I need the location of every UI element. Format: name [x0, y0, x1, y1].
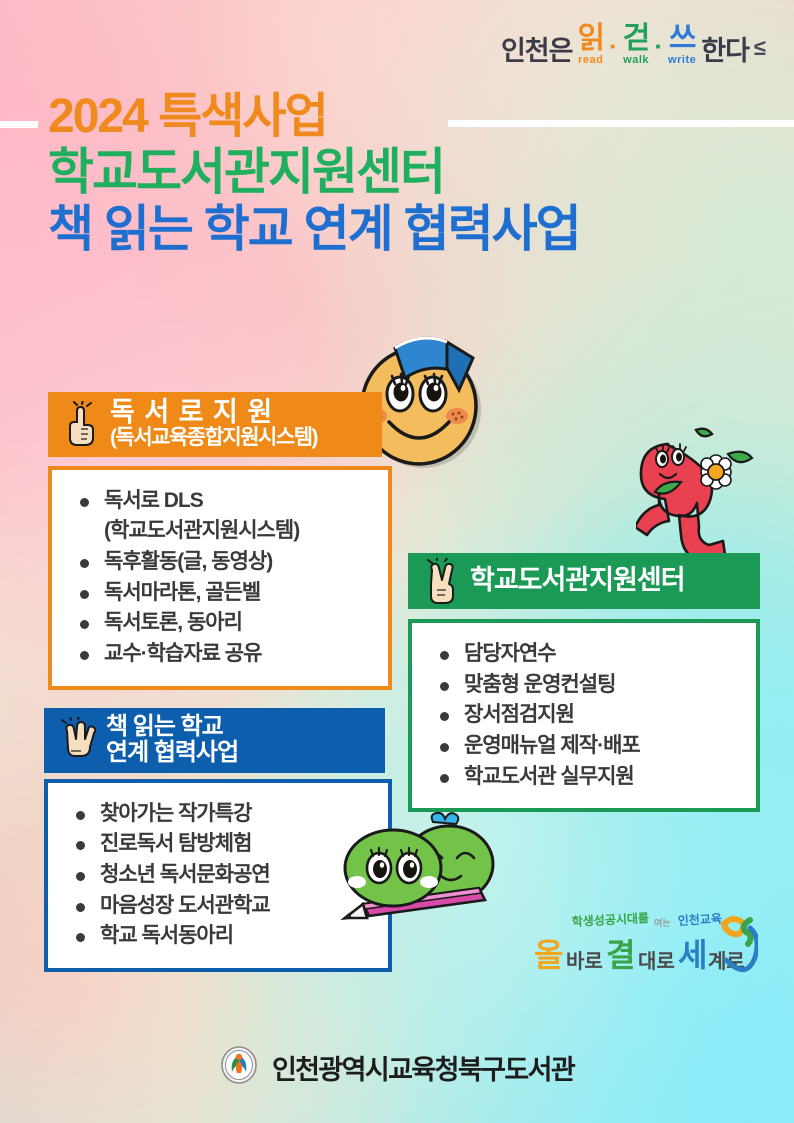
section-1-list: 독서로 DLS (학교도서관지원시스템) 독후활동(글, 동영상) 독서마라톤,… [52, 470, 388, 686]
section-2-body: 담당자연수 맞춤형 운영컨설팅 장서점검지원 운영매뉴얼 제작·배포 학교도서관… [408, 619, 760, 812]
list-item-text: 독서마라톤, 골든벨 [104, 581, 260, 604]
brand-walk-label: walk [623, 55, 649, 66]
svg-text:대로: 대로 [638, 950, 675, 973]
brand-separator-dot: · [609, 31, 618, 66]
brand-write: 쓰 write [668, 24, 696, 66]
list-item-text: 교수·학습자료 공유 [104, 642, 261, 665]
title-line-3: 책 읽는 학교 연계 협력사업 [48, 203, 580, 256]
page-title: 2024 특색사업 학교도서관지원센터 책 읽는 학교 연계 협력사업 [48, 92, 580, 255]
section-dokseoro-support: 독 서 로 지 원 (독서교육종합지원시스템) 독서로 DLS (학교도서관지원… [48, 392, 392, 690]
list-item: 독서로 DLS (학교도서관지원시스템) [76, 486, 378, 547]
brand-prefix: 인천은 [501, 38, 573, 66]
section-1-subtitle: (독서교육종합지원시스템) [110, 426, 317, 449]
section-1-title: 독 서 로 지 원 [110, 397, 273, 427]
list-item: 담당자연수 [436, 639, 746, 670]
title-line-2: 학교도서관지원센터 [48, 146, 580, 199]
list-item: 독서마라톤, 골든벨 [76, 578, 378, 609]
list-item: 학교도서관 실무지원 [436, 762, 746, 793]
svg-text:세: 세 [678, 937, 707, 973]
hand-one-finger-icon [60, 401, 100, 447]
brand-suffix: 한다 [701, 38, 749, 66]
section-3-title-line2: 연계 협력사업 [106, 739, 238, 766]
svg-text:올: 올 [534, 937, 563, 973]
brand-separator-dot-2: · [654, 31, 663, 66]
title-rule-left [0, 121, 38, 128]
section-3-title: 책 읽는 학교 [106, 713, 223, 740]
section-2-title: 학교도서관지원센터 [470, 565, 685, 595]
section-3-header: 책 읽는 학교 연계 협력사업 [44, 708, 385, 773]
list-item: 독서토론, 동아리 [76, 608, 378, 639]
list-item-text: 담당자연수 [464, 642, 556, 665]
list-item-text: 학교도서관 실무지원 [464, 765, 634, 788]
list-item-text: 진로독서 탐방체험 [100, 832, 251, 855]
list-item: 교수·학습자료 공유 [76, 639, 378, 670]
list-item: 독후활동(글, 동영상) [76, 547, 378, 578]
hand-three-fingers-icon [56, 717, 96, 763]
svg-text:학생성공시대를: 학생성공시대를 [571, 910, 649, 929]
brand-write-glyph: 쓰 [669, 24, 696, 54]
list-item-text: 찾아가는 작가특강 [100, 802, 251, 825]
svg-text:인천교육: 인천교육 [677, 911, 722, 928]
brand-read: 읽 read [577, 24, 604, 66]
list-item: 맞춤형 운영컨설팅 [436, 670, 746, 701]
svg-text:바로: 바로 [566, 950, 603, 973]
brand-read-label: read [578, 55, 603, 66]
hand-two-fingers-icon [420, 558, 460, 604]
incheon-read-walk-write-brand: 인천은 읽 read · 걷 walk · 쓰 write 한다 ≤ [501, 24, 766, 66]
brand-walk-glyph: 걷 [623, 24, 650, 54]
incheon-education-emblem-icon [220, 1046, 258, 1089]
red-running-flower-mascot [636, 424, 760, 561]
section-2-list: 담당자연수 맞춤형 운영컨설팅 장서점검지원 운영매뉴얼 제작·배포 학교도서관… [412, 623, 756, 808]
list-item: 장서점검지원 [436, 700, 746, 731]
brand-read-glyph: 읽 [577, 24, 604, 54]
list-item-text: 운영매뉴얼 제작·배포 [464, 734, 640, 757]
section-2-header: 학교도서관지원센터 [408, 553, 760, 609]
incheon-education-slogan: 학생성공시대를 여는 인천교육 올 바로 결 대로 세 계로 [528, 908, 758, 990]
green-mascots-with-pencil [333, 812, 509, 927]
brand-write-label: write [668, 55, 696, 66]
list-item-text: 독서로 DLS [104, 489, 203, 512]
list-item-text: 학교 독서동아리 [100, 924, 233, 947]
list-item-text: 맞춤형 운영컨설팅 [464, 673, 615, 696]
section-1-body: 독서로 DLS (학교도서관지원시스템) 독후활동(글, 동영상) 독서마라톤,… [48, 466, 392, 690]
list-item-text: 청소년 독서문화공연 [100, 863, 270, 886]
list-item-text: 독서토론, 동아리 [104, 611, 242, 634]
svg-text:결: 결 [606, 937, 635, 973]
title-line-1: 2024 특색사업 [48, 92, 580, 142]
section-1-header: 독 서 로 지 원 (독서교육종합지원시스템) [48, 392, 382, 457]
brand-walk: 걷 walk [623, 24, 650, 66]
list-item-text: 장서점검지원 [464, 703, 574, 726]
footer: 인천광역시교육청북구도서관 [0, 1046, 794, 1089]
list-item-text: 마음성장 도서관학교 [100, 894, 270, 917]
list-item-continuation: (학교도서관지원시스템) [104, 516, 378, 547]
brand-arrow-icon: ≤ [754, 35, 766, 66]
list-item-text: 독후활동(글, 동영상) [104, 550, 272, 573]
list-item: 운영매뉴얼 제작·배포 [436, 731, 746, 762]
footer-organization: 인천광역시교육청북구도서관 [272, 1048, 574, 1087]
svg-text:여는: 여는 [654, 917, 671, 928]
section-school-library-support-center: 학교도서관지원센터 담당자연수 맞춤형 운영컨설팅 장서점검지원 운영매뉴얼 제… [408, 553, 760, 812]
